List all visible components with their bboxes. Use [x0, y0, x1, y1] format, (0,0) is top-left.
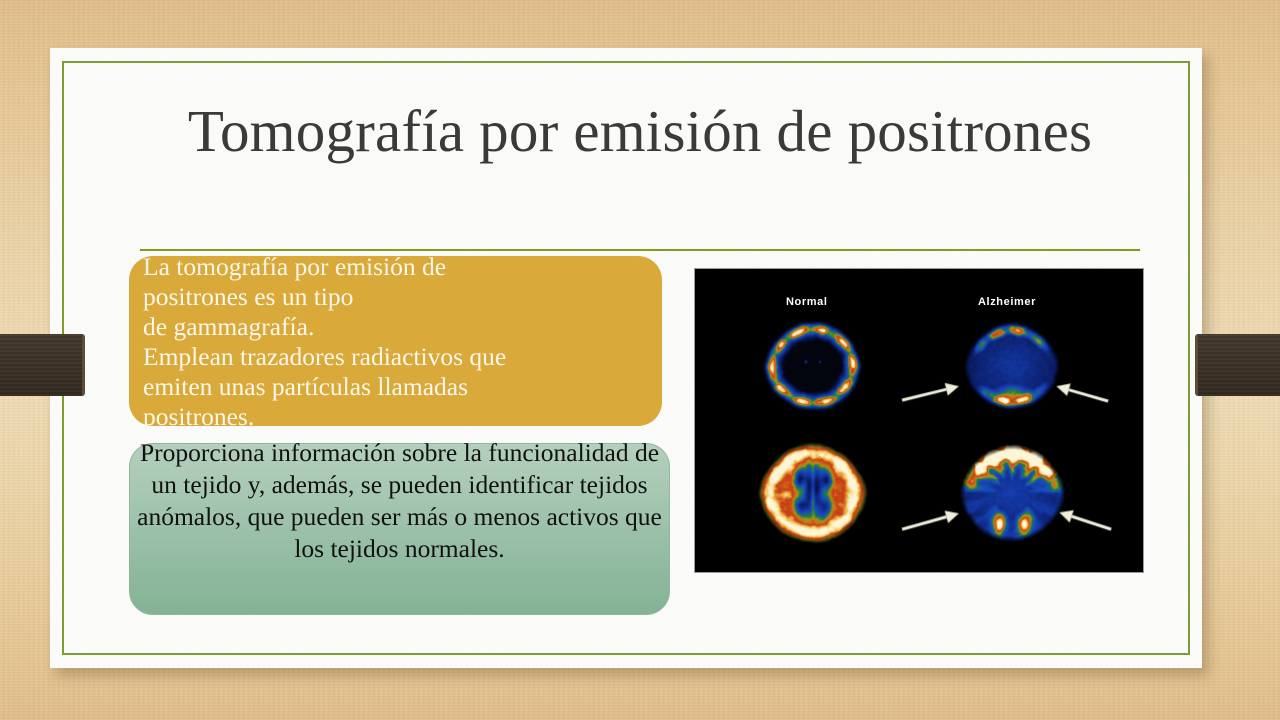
pet-scan-image[interactable]: Normal Alzheimer: [694, 268, 1144, 573]
page-title: Tomografía por emisión de positrones: [140, 96, 1140, 167]
pet-scan-canvas: [695, 269, 1143, 572]
decorative-ribbon-left: [0, 334, 85, 396]
title-divider: [140, 249, 1140, 251]
pet-label-alzheimer: Alzheimer: [978, 296, 1036, 308]
green-callout-text: Proporciona información sobre la funcion…: [137, 437, 662, 565]
yellow-callout-text: La tomografía por emisión de positrones …: [143, 252, 668, 432]
pet-label-normal: Normal: [786, 296, 828, 308]
decorative-ribbon-right: [1195, 334, 1280, 396]
presentation-slide: Tomografía por emisión de positrones La …: [0, 0, 1280, 720]
